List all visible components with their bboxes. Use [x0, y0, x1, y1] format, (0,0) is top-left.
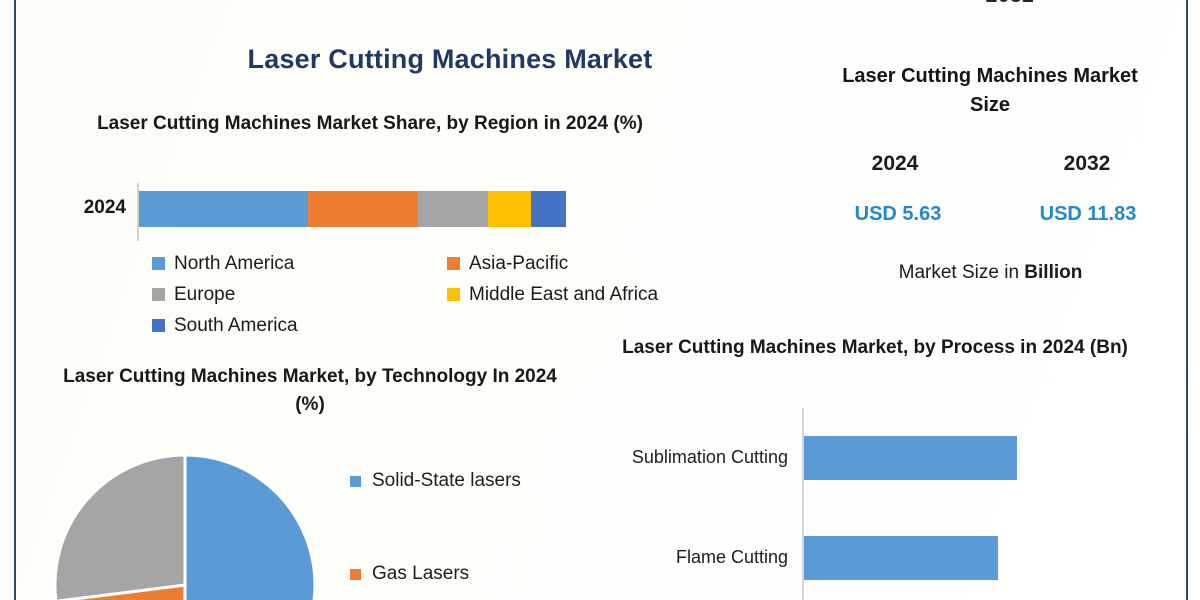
- process-bar-chart: Sublimation Cutting Flame Cutting: [600, 408, 1180, 600]
- market-size-unit-bold: Billion: [1024, 262, 1082, 283]
- market-size-title: Laser Cutting Machines Market Size: [840, 62, 1140, 120]
- region-legend-label: South America: [174, 315, 298, 337]
- region-bar-year-label: 2024: [60, 197, 126, 219]
- swatch-icon-middle-east-africa: [447, 288, 460, 301]
- process-bar-row-sublimation: Sublimation Cutting: [600, 436, 1180, 480]
- region-legend-row: Europe Middle East and Africa: [152, 279, 712, 310]
- process-bar-flame: [804, 536, 998, 580]
- process-section-title: Laser Cutting Machines Market, by Proces…: [590, 334, 1160, 362]
- process-bar-row-flame: Flame Cutting: [600, 536, 1180, 580]
- infographic-canvas: 2032 Laser Cutting Machines Market Laser…: [0, 0, 1200, 600]
- swatch-icon-europe: [152, 288, 165, 301]
- market-size-year-2024: 2024: [820, 152, 970, 176]
- region-legend-label: Europe: [174, 284, 235, 306]
- pie-slice-other: [55, 455, 185, 600]
- swatch-icon-north-america: [152, 257, 165, 270]
- market-size-unit-note: Market Size in Billion: [838, 262, 1143, 284]
- region-legend-item-europe: Europe: [152, 284, 447, 306]
- region-legend-item-south-america: South America: [152, 315, 447, 337]
- region-segment-north-america: [139, 191, 308, 227]
- process-bar-label: Sublimation Cutting: [600, 447, 788, 468]
- technology-legend-label: Solid-State lasers: [372, 470, 521, 492]
- technology-legend: Solid-State lasers Gas Lasers: [350, 466, 521, 600]
- pie-svg: [50, 450, 325, 600]
- frame-rule-left: [14, 0, 16, 600]
- region-stacked-bar-chart: 2024: [60, 188, 580, 236]
- region-legend-item-middle-east-africa: Middle East and Africa: [447, 284, 658, 306]
- technology-section-title: Laser Cutting Machines Market, by Techno…: [55, 363, 565, 418]
- region-bar-track: [139, 191, 566, 227]
- technology-legend-item-solid-state: Solid-State lasers: [350, 466, 521, 496]
- region-segment-middle-east-africa: [488, 191, 531, 227]
- market-size-value-2024: USD 5.63: [823, 203, 973, 226]
- market-size-unit-prefix: Market Size in: [899, 262, 1025, 283]
- region-legend-label: Middle East and Africa: [469, 284, 658, 306]
- region-legend: North America Asia-Pacific Europe Middle…: [152, 248, 712, 341]
- region-legend-row: North America Asia-Pacific: [152, 248, 712, 279]
- process-bar-sublimation: [804, 436, 1017, 480]
- region-legend-label: Asia-Pacific: [469, 253, 568, 275]
- region-legend-item-asia-pacific: Asia-Pacific: [447, 253, 568, 275]
- pie-slice-solid-state-lasers: [185, 455, 315, 600]
- region-segment-asia-pacific: [308, 191, 418, 227]
- market-size-value-2032: USD 11.83: [1013, 203, 1163, 226]
- swatch-icon-gas-lasers: [350, 569, 361, 580]
- technology-legend-label: Gas Lasers: [372, 563, 469, 585]
- clipped-top-year: 2032: [940, 0, 1080, 8]
- swatch-icon-asia-pacific: [447, 257, 460, 270]
- region-segment-south-america: [531, 191, 566, 227]
- technology-legend-item-gas-lasers: Gas Lasers: [350, 559, 521, 589]
- technology-pie-chart: [50, 450, 325, 600]
- frame-rule-right: [1186, 0, 1188, 600]
- swatch-icon-solid-state-lasers: [350, 476, 361, 487]
- market-size-year-2032: 2032: [1012, 152, 1162, 176]
- page-title: Laser Cutting Machines Market: [120, 44, 780, 75]
- process-bar-label: Flame Cutting: [600, 547, 788, 568]
- region-legend-item-north-america: North America: [152, 253, 447, 275]
- region-segment-europe: [418, 191, 488, 227]
- swatch-icon-south-america: [152, 319, 165, 332]
- region-section-title: Laser Cutting Machines Market Share, by …: [90, 110, 650, 138]
- region-legend-label: North America: [174, 253, 294, 275]
